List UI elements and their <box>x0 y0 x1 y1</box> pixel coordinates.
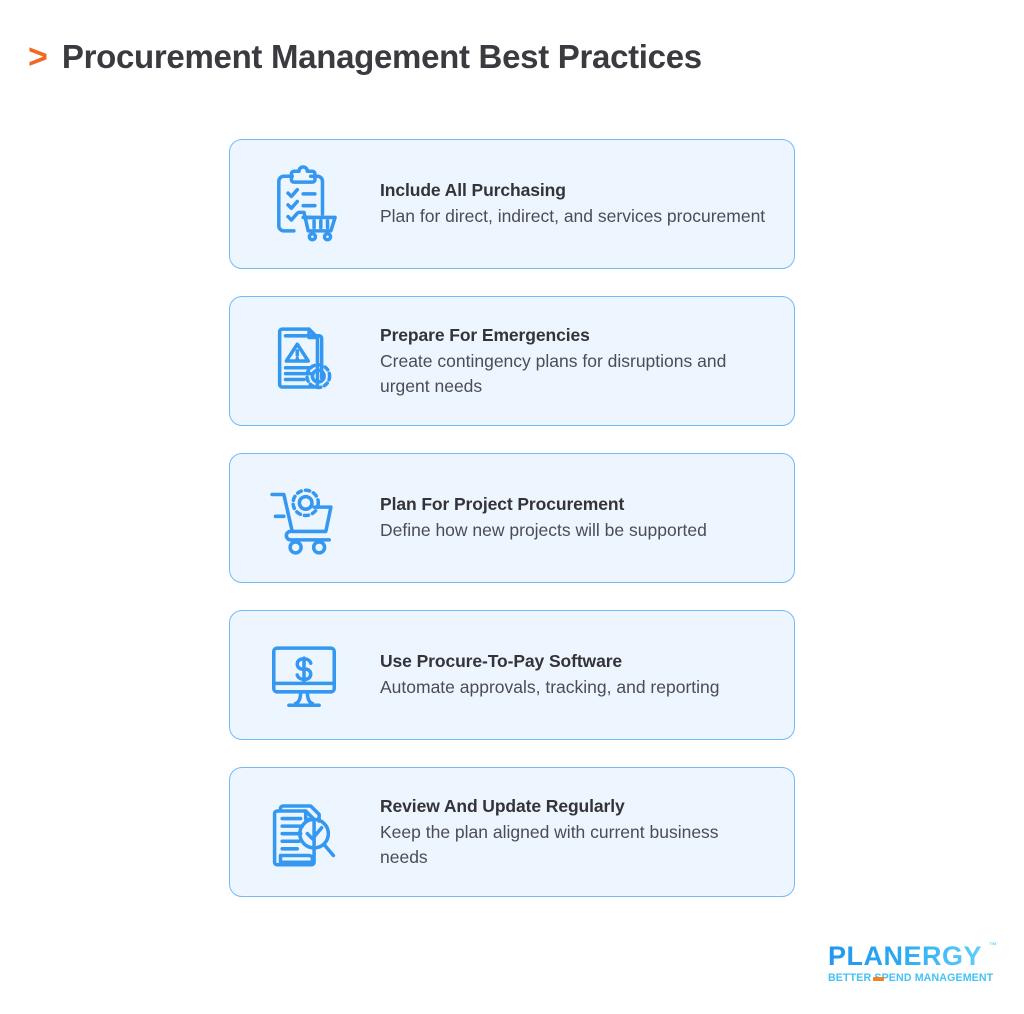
card-use-procure-to-pay-software[interactable]: Use Procure-To-Pay Software Automate app… <box>229 610 795 740</box>
page-title: > Procurement Management Best Practices <box>28 40 702 74</box>
card-review-and-update-regularly[interactable]: Review And Update Regularly Keep the pla… <box>229 767 795 897</box>
page-title-text: Procurement Management Best Practices <box>62 40 702 73</box>
card-text-block: Use Procure-To-Pay Software Automate app… <box>352 649 720 700</box>
logo-tagline: BETTER SPEND MANAGEMENT <box>828 973 996 984</box>
card-plan-for-project-procurement[interactable]: Plan For Project Procurement Define how … <box>229 453 795 583</box>
clipboard-checklist-cart-icon <box>256 158 352 250</box>
card-description: Create contingency plans for disruptions… <box>380 349 770 400</box>
card-description: Define how new projects will be supporte… <box>380 518 707 543</box>
card-heading: Include All Purchasing <box>380 180 765 202</box>
title-chevron-icon: > <box>28 40 48 74</box>
card-text-block: Prepare For Emergencies Create contingen… <box>352 323 770 400</box>
card-prepare-for-emergencies[interactable]: Prepare For Emergencies Create contingen… <box>229 296 795 426</box>
logo-accent-bar-icon <box>873 977 884 981</box>
document-magnifier-check-icon <box>256 786 352 878</box>
shopping-cart-gear-icon <box>256 472 352 564</box>
document-warning-gear-icon <box>256 315 352 407</box>
planergy-logo: PLANERGY ™ BETTER SPEND MANAGEMENT <box>828 943 996 984</box>
card-heading: Use Procure-To-Pay Software <box>380 651 720 673</box>
card-description: Keep the plan aligned with current busin… <box>380 820 770 871</box>
card-include-all-purchasing[interactable]: Include All Purchasing Plan for direct, … <box>229 139 795 269</box>
card-text-block: Include All Purchasing Plan for direct, … <box>352 178 765 229</box>
card-heading: Plan For Project Procurement <box>380 494 707 516</box>
monitor-dollar-icon <box>256 629 352 721</box>
card-heading: Prepare For Emergencies <box>380 325 770 347</box>
best-practices-card-list: Include All Purchasing Plan for direct, … <box>229 139 795 897</box>
card-description: Automate approvals, tracking, and report… <box>380 675 720 700</box>
trademark-icon: ™ <box>989 941 997 950</box>
card-heading: Review And Update Regularly <box>380 796 770 818</box>
logo-wordmark: PLANERGY <box>828 943 996 970</box>
card-description: Plan for direct, indirect, and services … <box>380 204 765 229</box>
card-text-block: Review And Update Regularly Keep the pla… <box>352 794 770 871</box>
card-text-block: Plan For Project Procurement Define how … <box>352 492 707 543</box>
